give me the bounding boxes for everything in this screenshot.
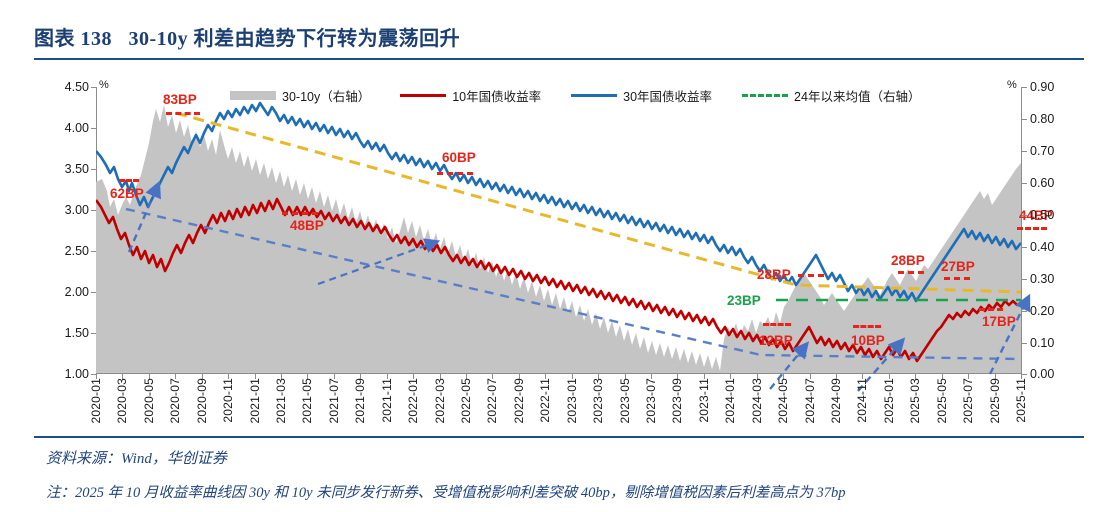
xtick-label: 2021-11 [380,378,394,423]
source-text: 资料来源：Wind，华创证券 [46,447,227,468]
annotation-60bp: 60BP [442,150,476,165]
xtick-label: 2023-09 [670,378,684,423]
xtick-label: 2025-05 [935,378,949,423]
xtick-label: 2023-11 [697,378,711,423]
tickmark-left [91,87,96,88]
ytick-right: 0.60 [1030,176,1054,190]
tickmark-right [1022,87,1027,88]
series-svg [96,87,1021,373]
xtick-label: 2025-07 [961,378,975,423]
tickmark-right [1022,183,1027,184]
xtick-label: 2021-01 [248,378,262,423]
xtick-label: 2024-07 [803,378,817,423]
ytick-left: 1.00 [65,367,89,381]
tickmark-right [1022,247,1027,248]
xtick-label: 2022-03 [433,378,447,423]
xtick-label: 2020-03 [115,378,129,423]
figure-header: 图表 138 30-10y 利差由趋势下行转为震荡回升 [34,22,1084,60]
xtick-label: 2024-09 [829,378,843,423]
xtick-label: 2023-05 [618,378,632,423]
annotation-mark-12bp [763,323,791,326]
tickmark-right [1022,343,1027,344]
annotation-mark-28bp-b [898,271,924,274]
xtick-label: 2024-01 [723,378,737,423]
figure-number: 138 [81,28,113,50]
annotation-mark-62bp [119,179,139,182]
ytick-left: 4.00 [65,121,89,135]
figure-label: 图表 [34,28,75,50]
figure-page: 图表 138 30-10y 利差由趋势下行转为震荡回升 30-10y（右轴） 1… [0,0,1117,512]
annotation-mark-28bp-a [798,274,824,277]
annotation-mark-17bp [979,308,1003,311]
annotation-62bp: 62BP [110,186,144,201]
xtick-label: 2025-03 [908,378,922,423]
xtick-label: 2025-09 [988,378,1002,423]
annotation-12bp: 12BP [759,333,793,348]
ytick-left: 4.50 [65,80,89,94]
tickmark-left [91,169,96,170]
annotation-83bp: 83BP [163,92,197,107]
xtick-label: 2020-11 [221,378,235,423]
ytick-left: 3.50 [65,162,89,176]
tickmark-left [91,128,96,129]
ytick-right: 0.10 [1030,336,1054,350]
x-axis-line [96,373,1022,374]
tickmark-right [1022,311,1027,312]
annotation-mark-83bp [166,112,200,115]
ytick-left: 2.00 [65,285,89,299]
xtick-label: 2025-11 [1014,378,1028,423]
ytick-right: 0.70 [1030,144,1054,158]
ytick-right: 0.30 [1030,272,1054,286]
xtick-label: 2020-01 [89,378,103,423]
xtick-label: 2021-03 [274,378,288,423]
xtick-label: 2022-07 [485,378,499,423]
xtick-label: 2021-09 [353,378,367,423]
xtick-label: 2024-03 [750,378,764,423]
xtick-label: 2023-01 [565,378,579,423]
xtick-label: 2021-07 [327,378,341,423]
tickmark-left [91,210,96,211]
plot-region [96,87,1021,373]
annotation-48bp: 48BP [290,218,324,233]
page-title: 图表 138 30-10y 利差由趋势下行转为震荡回升 [34,22,1084,51]
xtick-label: 2025-01 [882,378,896,423]
annotation-27bp: 27BP [941,259,975,274]
xtick-label: 2024-05 [776,378,790,423]
footer-divider [34,436,1084,438]
xtick-label: 2022-09 [512,378,526,423]
annotation-17bp: 17BP [982,314,1016,329]
ytick-right: 0.80 [1030,112,1054,126]
xtick-label: 2020-07 [168,378,182,423]
annotation-23bp: 23BP [727,293,761,308]
annotation-mark-44bp [1017,227,1047,230]
ytick-left: 2.50 [65,244,89,258]
ytick-right: 0.00 [1030,367,1054,381]
tickmark-right [1022,151,1027,152]
annotation-28bp-a: 28BP [757,267,791,282]
annotation-mark-27bp [944,277,970,280]
figure-title-text: 30-10y 利差由趋势下行转为震荡回升 [129,28,461,50]
ytick-right: 0.90 [1030,80,1054,94]
tickmark-right [1022,215,1027,216]
xtick-label: 2022-05 [459,378,473,423]
ytick-right: 0.20 [1030,304,1054,318]
ytick-right: 0.40 [1030,240,1054,254]
annotation-mark-60bp [437,172,473,175]
annotation-28bp-b: 28BP [891,253,925,268]
ytick-left: 1.50 [65,326,89,340]
tickmark-left [91,251,96,252]
right-axis-line [1021,87,1022,373]
note-text: 注：2025 年 10 月收益率曲线因 30y 和 10y 未同步发行新券、受增… [46,481,846,502]
xtick-label: 2024-11 [855,378,869,423]
ytick-right: 0.50 [1030,208,1054,222]
annotation-mark-48bp [282,212,318,215]
xtick-label: 2022-01 [406,378,420,423]
chart-area: 30-10y（右轴） 10年国债收益率 30年国债收益率 24年以来均值（右轴）… [0,62,1117,436]
xtick-label: 2021-05 [300,378,314,423]
xtick-label: 2023-03 [591,378,605,423]
tickmark-right [1022,279,1027,280]
annotation-mark-10bp [853,325,881,328]
xtick-label: 2023-07 [644,378,658,423]
annotation-10bp: 10BP [851,333,885,348]
ytick-left: 3.00 [65,203,89,217]
header-divider [34,58,1084,60]
xtick-label: 2020-09 [195,378,209,423]
tickmark-left [91,333,96,334]
tickmark-right [1022,374,1027,375]
xtick-label: 2020-05 [142,378,156,423]
tickmark-right [1022,119,1027,120]
xtick-label: 2022-11 [538,378,552,423]
tickmark-left [91,292,96,293]
